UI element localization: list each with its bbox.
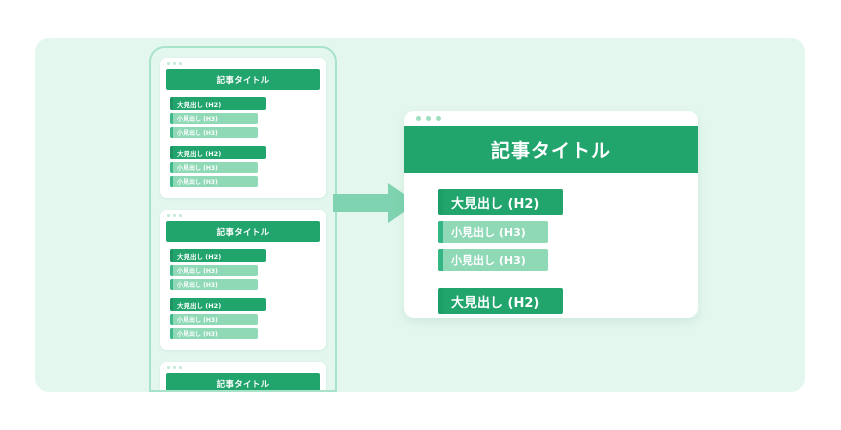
heading-bar-h2[interactable]: 大見出し (H2) <box>170 146 266 159</box>
page-title: 記事タイトル <box>217 226 270 238</box>
heading-bar-h3[interactable]: 小見出し (H3) <box>170 279 258 290</box>
heading-bar-h3[interactable]: 小見出し (H3) <box>170 328 258 339</box>
heading-bar-h3[interactable]: 小見出し (H3) <box>170 265 258 276</box>
card-header: 記事タイトル <box>166 373 320 392</box>
window-dot-icon <box>179 366 182 369</box>
heading-bar-h2[interactable]: 大見出し (H2) <box>170 97 266 110</box>
page-title: 記事タイトル <box>217 74 270 86</box>
list-item[interactable]: 記事タイトル 大見出し (H2) 小見出し (H3) 小見出し (H3) <box>160 58 326 198</box>
list-item[interactable]: 記事タイトル 大見出し (H2) 小見出し (H3) 小見出し (H3) <box>160 210 326 350</box>
card-body: 大見出し (H2) 小見出し (H3) 小見出し (H3) 大見出し (H2) <box>160 90 326 198</box>
window-dot-icon <box>167 62 170 65</box>
merged-article-card[interactable]: 記事タイトル 大見出し (H2) 小見出し (H3) 小見出し (H3) 大見出… <box>404 111 698 318</box>
page-title: 記事タイトル <box>217 378 270 390</box>
heading-bar-h3[interactable]: 小見出し (H3) <box>170 314 258 325</box>
card-header: 記事タイトル <box>166 69 320 90</box>
window-chrome <box>404 111 698 126</box>
window-dot-icon <box>173 366 176 369</box>
window-dot-icon <box>179 62 182 65</box>
heading-bar-h2[interactable]: 大見出し (H2) <box>170 298 266 311</box>
window-chrome <box>160 210 326 221</box>
window-chrome <box>160 58 326 69</box>
heading-bar-h3[interactable]: 小見出し (H3) <box>170 176 258 187</box>
heading-bar-h3[interactable]: 小見出し (H3) <box>170 127 258 138</box>
article-list-scroll[interactable]: 記事タイトル 大見出し (H2) 小見出し (H3) 小見出し (H3) <box>151 48 335 390</box>
window-dot-icon <box>167 214 170 217</box>
window-dot-icon <box>167 366 170 369</box>
heading-bar-h3[interactable]: 小見出し (H3) <box>438 249 548 271</box>
window-dot-icon <box>173 62 176 65</box>
heading-bar-h3[interactable]: 小見出し (H3) <box>438 221 548 243</box>
window-dot-icon <box>416 116 421 121</box>
diagram-stage: 記事タイトル 大見出し (H2) 小見出し (H3) 小見出し (H3) <box>0 0 841 430</box>
window-dot-icon <box>179 214 182 217</box>
heading-bar-h2[interactable]: 大見出し (H2) <box>438 288 563 314</box>
window-dot-icon <box>426 116 431 121</box>
heading-bar-h3[interactable]: 小見出し (H3) <box>170 162 258 173</box>
list-item[interactable]: 記事タイトル 大見出し (H2) 小見出し (H3) 小見出し (H3) <box>160 362 326 392</box>
card-header: 記事タイトル <box>404 126 698 173</box>
card-body: 大見出し (H2) 小見出し (H3) 小見出し (H3) 大見出し (H2) … <box>404 173 698 318</box>
heading-bar-h2[interactable]: 大見出し (H2) <box>438 189 563 215</box>
heading-bar-h2[interactable]: 大見出し (H2) <box>170 249 266 262</box>
card-body: 大見出し (H2) 小見出し (H3) 小見出し (H3) 大見出し (H2) <box>160 242 326 350</box>
window-dot-icon <box>436 116 441 121</box>
window-dot-icon <box>173 214 176 217</box>
page-title: 記事タイトル <box>491 136 611 163</box>
article-list-frame: 記事タイトル 大見出し (H2) 小見出し (H3) 小見出し (H3) <box>149 46 337 392</box>
window-chrome <box>160 362 326 373</box>
card-header: 記事タイトル <box>166 221 320 242</box>
heading-bar-h3[interactable]: 小見出し (H3) <box>170 113 258 124</box>
